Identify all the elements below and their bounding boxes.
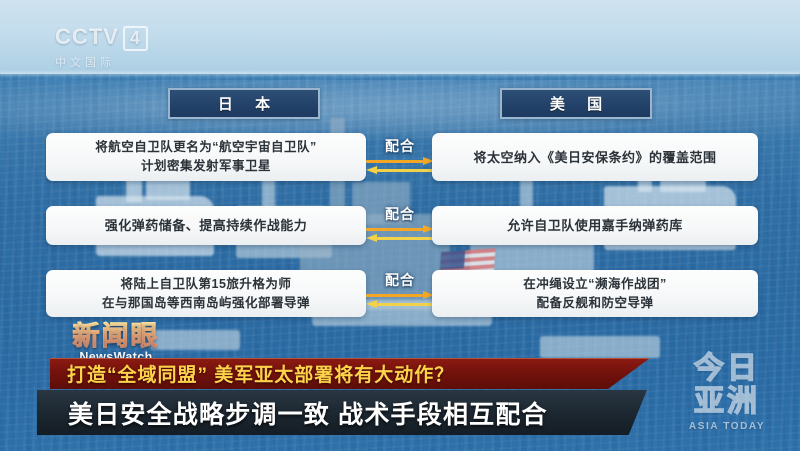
column-header-japan: 日 本 xyxy=(168,88,320,119)
program-bug-asia-today: 今日 亚洲 ASIA TODAY xyxy=(671,352,783,432)
bidirectional-arrows xyxy=(366,291,434,309)
program-logo: 新闻眼 NewsWatch xyxy=(46,322,186,364)
info-card-japan-row2: 强化弹药储备、提高持续作战能力 xyxy=(46,206,366,245)
info-card-text: 在冲绳设立“濒海作战团” 配备反舰和防空导弹 xyxy=(523,275,667,313)
program-logo-cn: 新闻眼 xyxy=(46,322,186,351)
cctv-watermark: CCTV4 中文国际 xyxy=(55,26,148,70)
info-card-text: 将航空自卫队更名为“航空宇宙自卫队” 计划密集发射军事卫星 xyxy=(95,138,317,176)
info-card-japan-row3: 将陆上自卫队第15旅升格为师 在与那国岛等西南岛屿强化部署导弹 xyxy=(46,270,366,317)
lower-third-headline: 美日安全战略步调一致 战术手段相互配合 xyxy=(68,395,548,431)
broadcast-screenshot: CCTV4 中文国际 日 本 美 国 将航空自卫队更名为“航空宇宙自卫队” 计划… xyxy=(0,0,800,451)
program-bug-en: ASIA TODAY xyxy=(671,421,783,432)
column-header-usa-label: 美 国 xyxy=(541,93,611,114)
arrow-right-icon xyxy=(366,157,434,166)
arrow-left-icon xyxy=(366,234,434,243)
lower-third-subtitle-bar: 打造“全域同盟” 美军亚太部署将有大动作？ xyxy=(50,358,650,389)
info-card-usa-row1: 将太空纳入《美日安保条约》的覆盖范围 xyxy=(432,133,758,181)
info-card-text: 允许自卫队使用嘉手纳弹药库 xyxy=(507,216,683,235)
bidirectional-arrows xyxy=(366,157,434,175)
connector-row3: 配合 xyxy=(364,272,436,309)
program-bug-cn-line2: 亚洲 xyxy=(671,385,783,418)
bidirectional-arrows xyxy=(366,225,434,243)
cctv-channel-number: 4 xyxy=(123,26,148,51)
lower-third-headline-bar: 美日安全战略步调一致 战术手段相互配合 xyxy=(37,390,647,435)
info-card-text: 强化弹药储备、提高持续作战能力 xyxy=(105,216,308,235)
arrow-right-icon xyxy=(366,291,434,300)
connector-label: 配合 xyxy=(385,138,415,155)
connector-row2: 配合 xyxy=(364,206,436,243)
column-header-usa: 美 国 xyxy=(500,88,652,119)
connector-row1: 配合 xyxy=(364,138,436,175)
arrow-left-icon xyxy=(366,300,434,309)
info-card-text: 将陆上自卫队第15旅升格为师 在与那国岛等西南岛屿强化部署导弹 xyxy=(102,275,310,313)
warship-distant xyxy=(540,336,660,358)
cctv-sub-wordmark: 中文国际 xyxy=(55,54,148,70)
lower-third-subtitle: 打造“全域同盟” 美军亚太部署将有大动作？ xyxy=(67,360,454,387)
info-card-usa-row2: 允许自卫队使用嘉手纳弹药库 xyxy=(432,206,758,245)
cctv-wordmark: CCTV xyxy=(55,24,119,49)
connector-label: 配合 xyxy=(385,206,415,223)
arrow-left-icon xyxy=(366,166,434,175)
column-header-japan-label: 日 本 xyxy=(209,93,279,114)
connector-label: 配合 xyxy=(385,272,415,289)
arrow-right-icon xyxy=(366,225,434,234)
info-card-text: 将太空纳入《美日安保条约》的覆盖范围 xyxy=(473,148,716,167)
info-card-usa-row3: 在冲绳设立“濒海作战团” 配备反舰和防空导弹 xyxy=(432,270,758,317)
info-card-japan-row1: 将航空自卫队更名为“航空宇宙自卫队” 计划密集发射军事卫星 xyxy=(46,133,366,181)
program-bug-cn-line1: 今日 xyxy=(671,352,783,385)
